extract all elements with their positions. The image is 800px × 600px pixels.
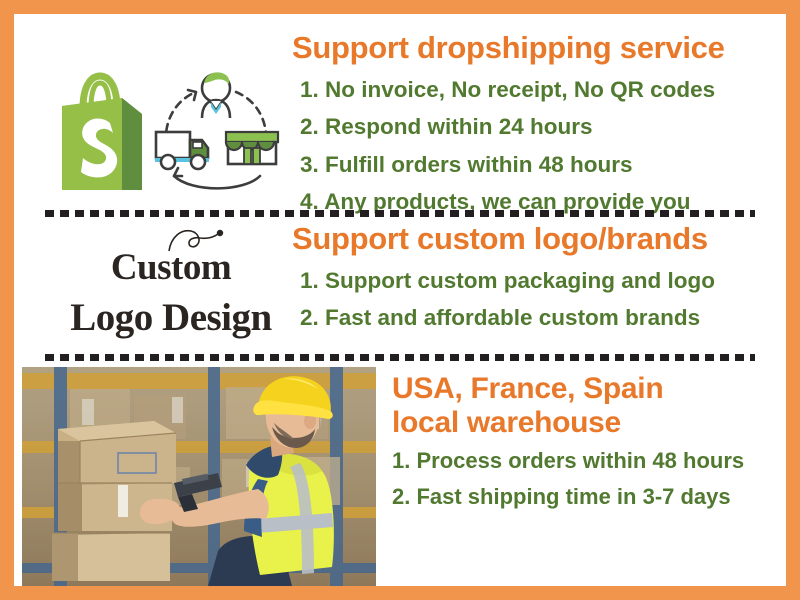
section-1-heading: Support dropshipping service: [292, 32, 725, 65]
custom-logo-design-artwork: Custom Logo Design: [56, 246, 286, 340]
section-1-bullet-2: 2. Respond within 24 hours: [300, 108, 725, 145]
section-2-bullet-1: 1. Support custom packaging and logo: [300, 262, 715, 299]
section-2-bullet-2: 2. Fast and affordable custom brands: [300, 299, 715, 336]
person-icon: [202, 72, 230, 118]
section-divider-2: [45, 354, 755, 361]
section-3-bullet-1: 1. Process orders within 48 hours: [392, 443, 744, 479]
storefront-icon: [226, 132, 278, 164]
custom-logo-line-1: Custom: [111, 247, 231, 288]
section-3-heading-line-2: local warehouse: [392, 406, 744, 440]
section-3-bullet-2: 2. Fast shipping time in 3-7 days: [392, 479, 744, 515]
section-2-heading: Support custom logo/brands: [292, 223, 715, 256]
section-divider-1: [45, 210, 755, 217]
dropshipping-text-block: Support dropshipping service 1. No invoi…: [292, 32, 725, 220]
dropshipping-cycle-illustration: [152, 66, 280, 201]
promo-banner: Support dropshipping service 1. No invoi…: [0, 0, 800, 600]
banner-inner-panel: Support dropshipping service 1. No invoi…: [14, 14, 786, 586]
warehouse-text-block: USA, France, Spain local warehouse 1. Pr…: [392, 372, 744, 514]
section-3-heading-line-1: USA, France, Spain: [392, 372, 744, 406]
custom-logo-line-1-wrap: Custom: [111, 246, 231, 289]
section-1-bullet-1: 1. No invoice, No receipt, No QR codes: [300, 71, 725, 108]
custom-logo-line-2: Logo Design: [56, 295, 286, 340]
delivery-truck-icon: [155, 132, 209, 169]
custom-logo-text-block: Support custom logo/brands 1. Support cu…: [292, 223, 715, 337]
warehouse-worker-scanning-boxes-photo: [22, 367, 376, 586]
shopify-bag-icon: [50, 68, 150, 201]
section-1-bullet-3: 3. Fulfill orders within 48 hours: [300, 146, 725, 183]
flourish-icon: [167, 227, 225, 253]
